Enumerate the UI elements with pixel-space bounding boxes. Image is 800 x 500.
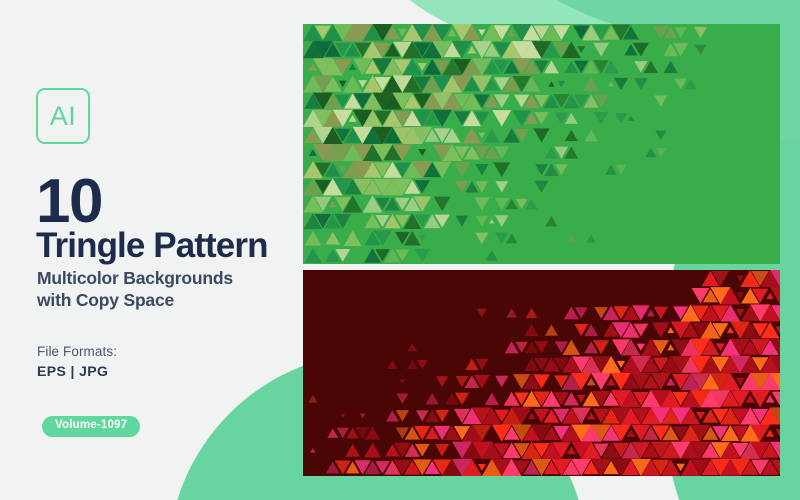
file-formats-label: File Formats: (37, 344, 117, 359)
file-formats-value: EPS | JPG (37, 363, 108, 379)
green-triangle-mosaic (303, 24, 780, 264)
poster-canvas: AI 10 Tringle Pattern Multicolor Backgro… (0, 0, 800, 500)
page-subtitle-line-2: with Copy Space (37, 289, 233, 311)
page-subtitle-line-1: Multicolor Backgrounds (37, 267, 233, 289)
adobe-illustrator-badge-icon: AI (36, 88, 90, 144)
preview-red-triangle-pattern[interactable] (303, 270, 780, 476)
volume-badge: Volume-1097 (42, 416, 140, 437)
item-count: 10 (36, 171, 102, 233)
preview-green-triangle-pattern[interactable] (303, 24, 780, 264)
ai-badge-label: AI (50, 103, 77, 130)
red-triangle-mosaic (303, 270, 780, 476)
info-column: AI 10 Tringle Pattern Multicolor Backgro… (36, 0, 298, 500)
page-title: Tringle Pattern (36, 228, 268, 263)
page-subtitle: Multicolor Backgrounds with Copy Space (37, 267, 233, 312)
